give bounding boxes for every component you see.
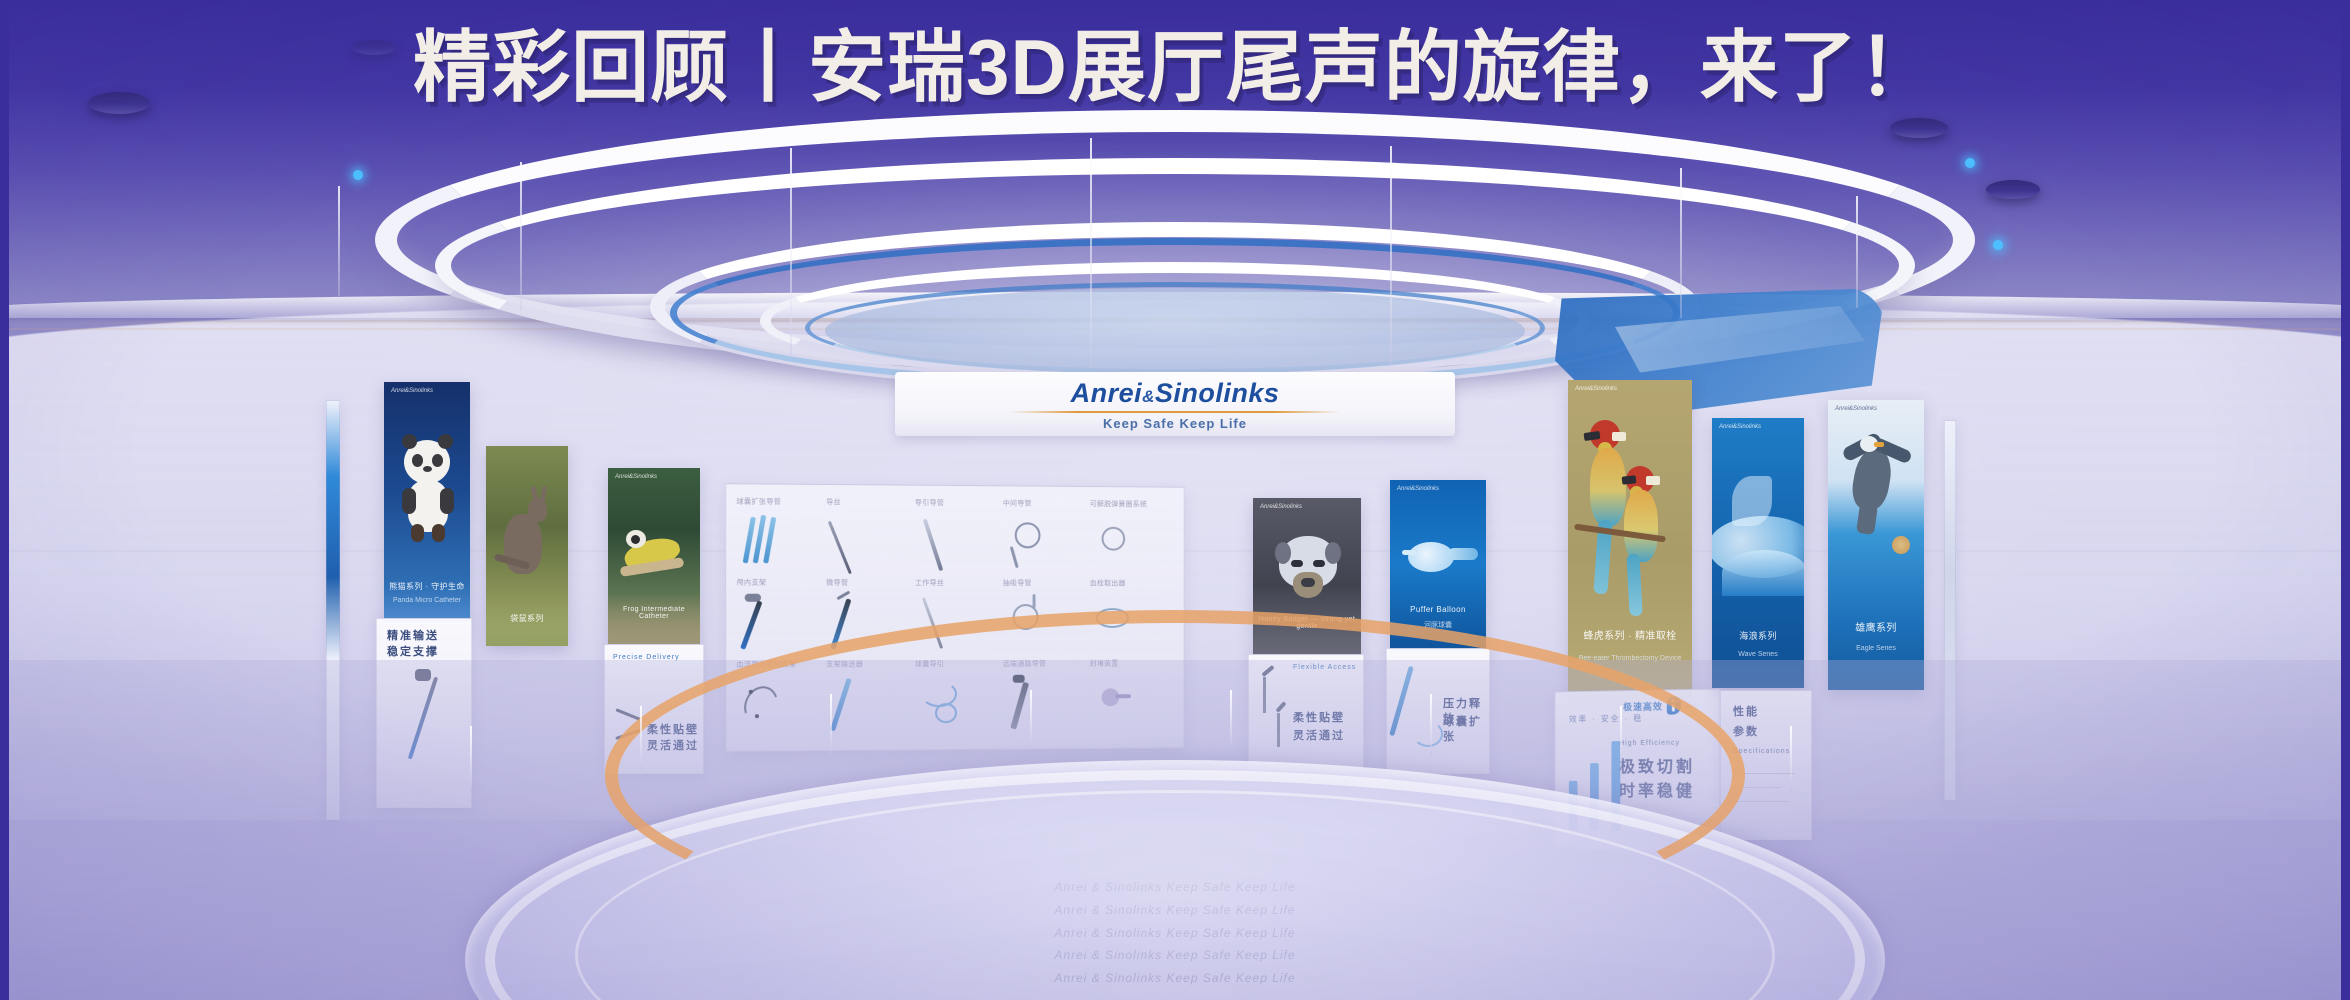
stage-post [1430, 694, 1432, 756]
poster-kangaroo[interactable]: 袋鼠系列 [486, 446, 568, 646]
poster-brand-label: Anrei&Sinolinks [1575, 386, 1617, 392]
panel-subtitle: 稳定支撑 [387, 645, 439, 660]
instrument-icon [1009, 512, 1051, 570]
floor-watermark-line: Anrei & Sinolinks Keep Safe Keep Life [675, 944, 1675, 967]
poster-brand-label: Anrei&Sinolinks [615, 474, 657, 480]
poster-brand-label: Anrei&Sinolinks [1260, 504, 1302, 510]
poster-brand-label: Anrei&Sinolinks [1719, 424, 1761, 430]
floor-watermark-line: Anrei & Sinolinks Keep Safe Keep Life [675, 967, 1675, 990]
product-label: 中间导管 [1003, 498, 1088, 509]
floor-watermark: Anrei & Sinolinks Keep Safe Keep Life An… [675, 876, 1675, 990]
poster-panda[interactable]: Anrei&Sinolinks 熊猫系列 · 守护生命 Panda Micro … [384, 382, 470, 622]
stage-post [470, 726, 472, 792]
stage-post [1230, 690, 1232, 750]
instrument-icon [921, 512, 963, 570]
ring-led-2-icon [1965, 158, 1975, 168]
hanging-cable [790, 148, 792, 358]
ring-led-1-icon [353, 170, 363, 180]
product-label: 导丝 [826, 497, 913, 508]
product-label: 导引导管 [915, 498, 1001, 509]
product-cell[interactable]: 导丝 [826, 497, 913, 576]
stage-post [640, 706, 642, 770]
hanging-cable [338, 186, 340, 296]
poster-caption-en: Wave Series [1712, 651, 1804, 658]
product-cell[interactable]: 球囊扩张导管 [736, 496, 824, 576]
poster-wave[interactable]: Anrei&Sinolinks 海浪系列 Wave Series [1712, 418, 1804, 688]
poster-frog[interactable]: Anrei&Sinolinks Frog Intermediate Cathet… [608, 468, 700, 644]
product-label: 颅内支架 [736, 578, 824, 588]
product-label: 血栓取出器 [1090, 579, 1174, 589]
poster-caption: 熊猫系列 · 守护生命 [384, 581, 470, 592]
product-label: 可解脱弹簧圈系统 [1090, 499, 1174, 509]
product-label: 工作导丝 [915, 578, 1001, 588]
product-label: 抽吸导管 [1003, 578, 1088, 588]
product-cell[interactable]: 颅内支架 [736, 578, 824, 657]
product-label: 微导管 [826, 578, 913, 588]
stage-post [1030, 690, 1032, 750]
brand-logo-text: Anrei&Sinolinks [1071, 378, 1280, 409]
floor-watermark-line: Anrei & Sinolinks Keep Safe Keep Life [675, 922, 1675, 945]
hanging-cable [1390, 146, 1392, 364]
brand-logo-anrei: Anrei [1071, 378, 1143, 408]
page-title: 精彩回顾丨安瑞3D展厅尾声的旋律，来了！ [0, 28, 2350, 106]
product-cell[interactable]: 中间导管 [1003, 498, 1088, 576]
product-cell[interactable]: 可解脱弹簧圈系统 [1090, 499, 1174, 577]
right-border-strip [2341, 0, 2350, 1000]
instrument-icon [743, 592, 786, 651]
instrument-icon [1096, 513, 1137, 571]
ring-led-3-icon [1993, 240, 2003, 250]
poster-caption: Frog Intermediate Catheter [608, 606, 700, 620]
poster-caption: Puffer Balloon [1390, 605, 1486, 614]
brand-logo-sinolinks: Sinolinks [1155, 378, 1280, 408]
panel-title: 精准输送 [387, 629, 439, 644]
poster-brand-label: Anrei&Sinolinks [391, 388, 433, 394]
poster-caption-en: Eagle Series [1828, 645, 1924, 652]
stage-post [1620, 706, 1622, 770]
poster-caption: 袋鼠系列 [486, 613, 568, 624]
product-label: 球囊扩张导管 [736, 496, 824, 507]
brand-logo-amp: & [1142, 387, 1155, 406]
product-cell[interactable]: 导引导管 [915, 498, 1001, 577]
left-border-strip [0, 0, 9, 1000]
poster-caption-en: Panda Micro Catheter [384, 597, 470, 604]
hanging-cable [520, 162, 522, 310]
instrument-icon [743, 511, 786, 570]
poster-eagle[interactable]: Anrei&Sinolinks 雄鹰系列 Eagle Series [1828, 400, 1924, 690]
poster-bee-eater[interactable]: Anrei&Sinolinks 蜂虎系列 · 精准取栓 Bee-eater Th… [1568, 380, 1692, 700]
exhibition-hall-scene: Anrei&Sinolinks Keep Safe Keep Life Anre… [0, 0, 2350, 1000]
poster-caption: 蜂虎系列 · 精准取栓 [1568, 627, 1692, 642]
brand-tagline: Keep Safe Keep Life [1103, 416, 1247, 431]
stage-post [1790, 726, 1792, 792]
stage-post [830, 694, 832, 756]
poster-brand-label: Anrei&Sinolinks [1835, 406, 1877, 412]
floor-watermark-line: Anrei & Sinolinks Keep Safe Keep Life [675, 899, 1675, 922]
brand-logo-underline [1010, 411, 1340, 413]
floor-watermark-line: Anrei & Sinolinks Keep Safe Keep Life [675, 876, 1675, 899]
ring-core-disc [825, 288, 1525, 374]
hanging-cable [1856, 196, 1858, 308]
poster-brand-label: Anrei&Sinolinks [1397, 486, 1439, 492]
hanging-cable [1090, 138, 1092, 368]
instrument-icon [832, 511, 874, 570]
brand-logo-band: Anrei&Sinolinks Keep Safe Keep Life [895, 372, 1455, 436]
poster-caption: 雄鹰系列 [1828, 619, 1924, 634]
poster-caption: 海浪系列 [1712, 629, 1804, 642]
hanging-cable [1680, 168, 1682, 318]
